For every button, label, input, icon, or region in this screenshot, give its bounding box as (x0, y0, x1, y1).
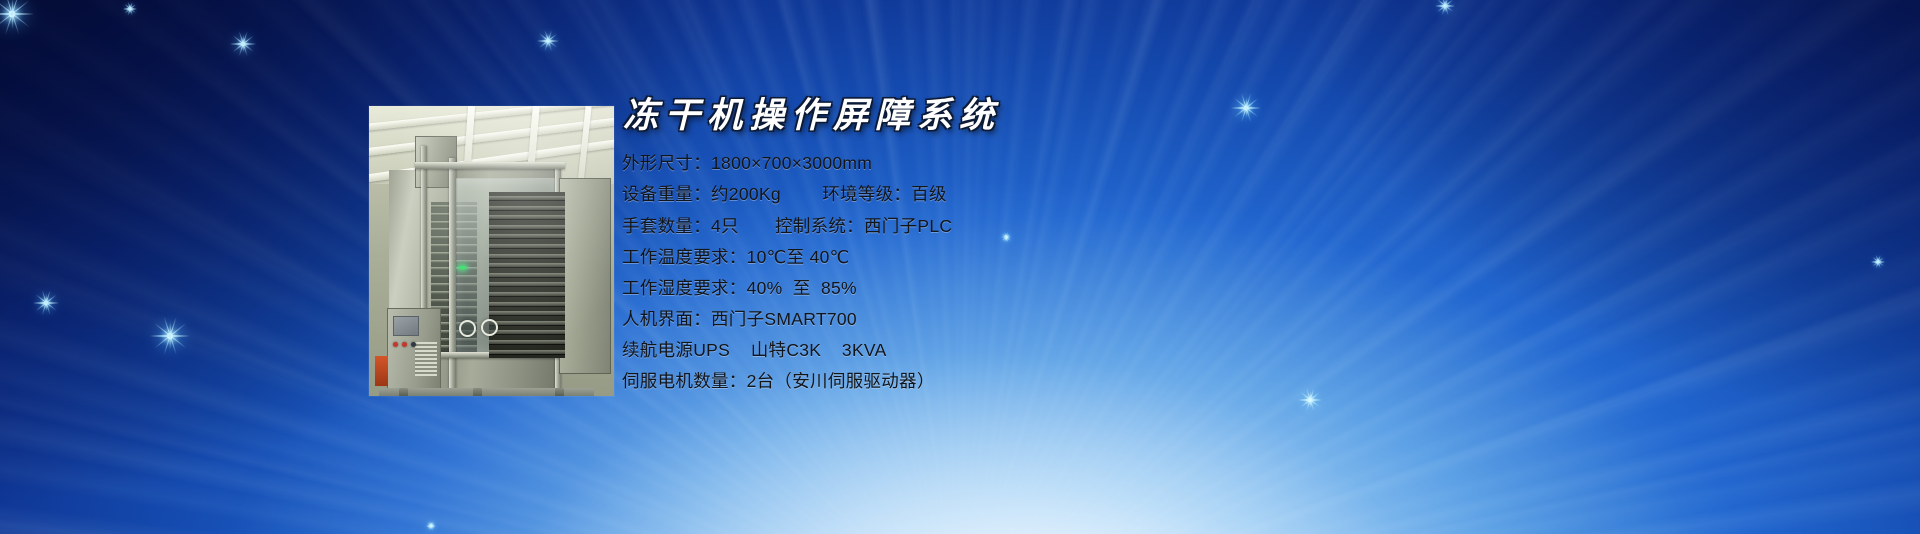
shelf-plate (489, 302, 565, 306)
frame-post (449, 158, 456, 396)
spec-list: 外形尺寸：1800×700×3000mm设备重量：约200Kg 环境等级：百级手… (620, 150, 1440, 396)
shelf-plate (489, 234, 565, 238)
panel-button (411, 342, 416, 347)
shelf-plate (489, 282, 565, 286)
shelf-plate (489, 254, 565, 258)
ventilation-grille (415, 342, 437, 376)
shelf-plate (489, 206, 565, 210)
caster-wheel (399, 388, 408, 396)
page-title: 冻干机操作屏障系统 (623, 96, 1440, 136)
status-led (459, 266, 466, 269)
caster-wheel (473, 388, 482, 396)
spec-line: 人机界面：西门子SMART700 (622, 306, 1440, 334)
shelf-plate (489, 340, 565, 344)
chamber-door (559, 178, 611, 374)
spec-line: 工作湿度要求：40% 至 85% (622, 275, 1440, 303)
spec-line: 工作温度要求：10℃至 40℃ (622, 244, 1440, 272)
caster-wheel (555, 388, 564, 396)
banner-content: 冻干机操作屏障系统 外形尺寸：1800×700×3000mm设备重量：约200K… (620, 96, 1440, 399)
spec-line: 伺服电机数量：2台（安川伺服驱动器） (622, 368, 1440, 396)
shelf-plate (489, 215, 565, 219)
product-banner: 冻干机操作屏障系统 外形尺寸：1800×700×3000mm设备重量：约200K… (0, 0, 1920, 534)
panel-button (393, 342, 398, 347)
spec-line: 手套数量：4只 控制系统：西门子PLC (622, 213, 1440, 241)
shelf-stack (489, 192, 565, 358)
glove-port (459, 320, 476, 337)
shelf-plate (489, 244, 565, 248)
shelf-plate (489, 311, 565, 315)
shelf-plate (489, 263, 565, 267)
product-photo (369, 106, 614, 396)
shelf-plate (489, 292, 565, 296)
spec-line: 续航电源UPS 山特C3K 3KVA (622, 337, 1440, 365)
glove-port (481, 319, 498, 336)
shelf-plate (489, 321, 565, 325)
spec-line: 设备重量：约200Kg 环境等级：百级 (622, 181, 1440, 209)
shelf-plate (489, 350, 565, 354)
frame-rail (415, 162, 565, 169)
spec-line: 外形尺寸：1800×700×3000mm (622, 150, 1440, 178)
side-equipment (375, 356, 388, 386)
shelf-plate (489, 225, 565, 229)
shelf-plate (489, 273, 565, 277)
shelf-plate (489, 330, 565, 334)
panel-button (402, 342, 407, 347)
shelf-plate (489, 196, 565, 200)
control-panel-screen (393, 316, 419, 336)
